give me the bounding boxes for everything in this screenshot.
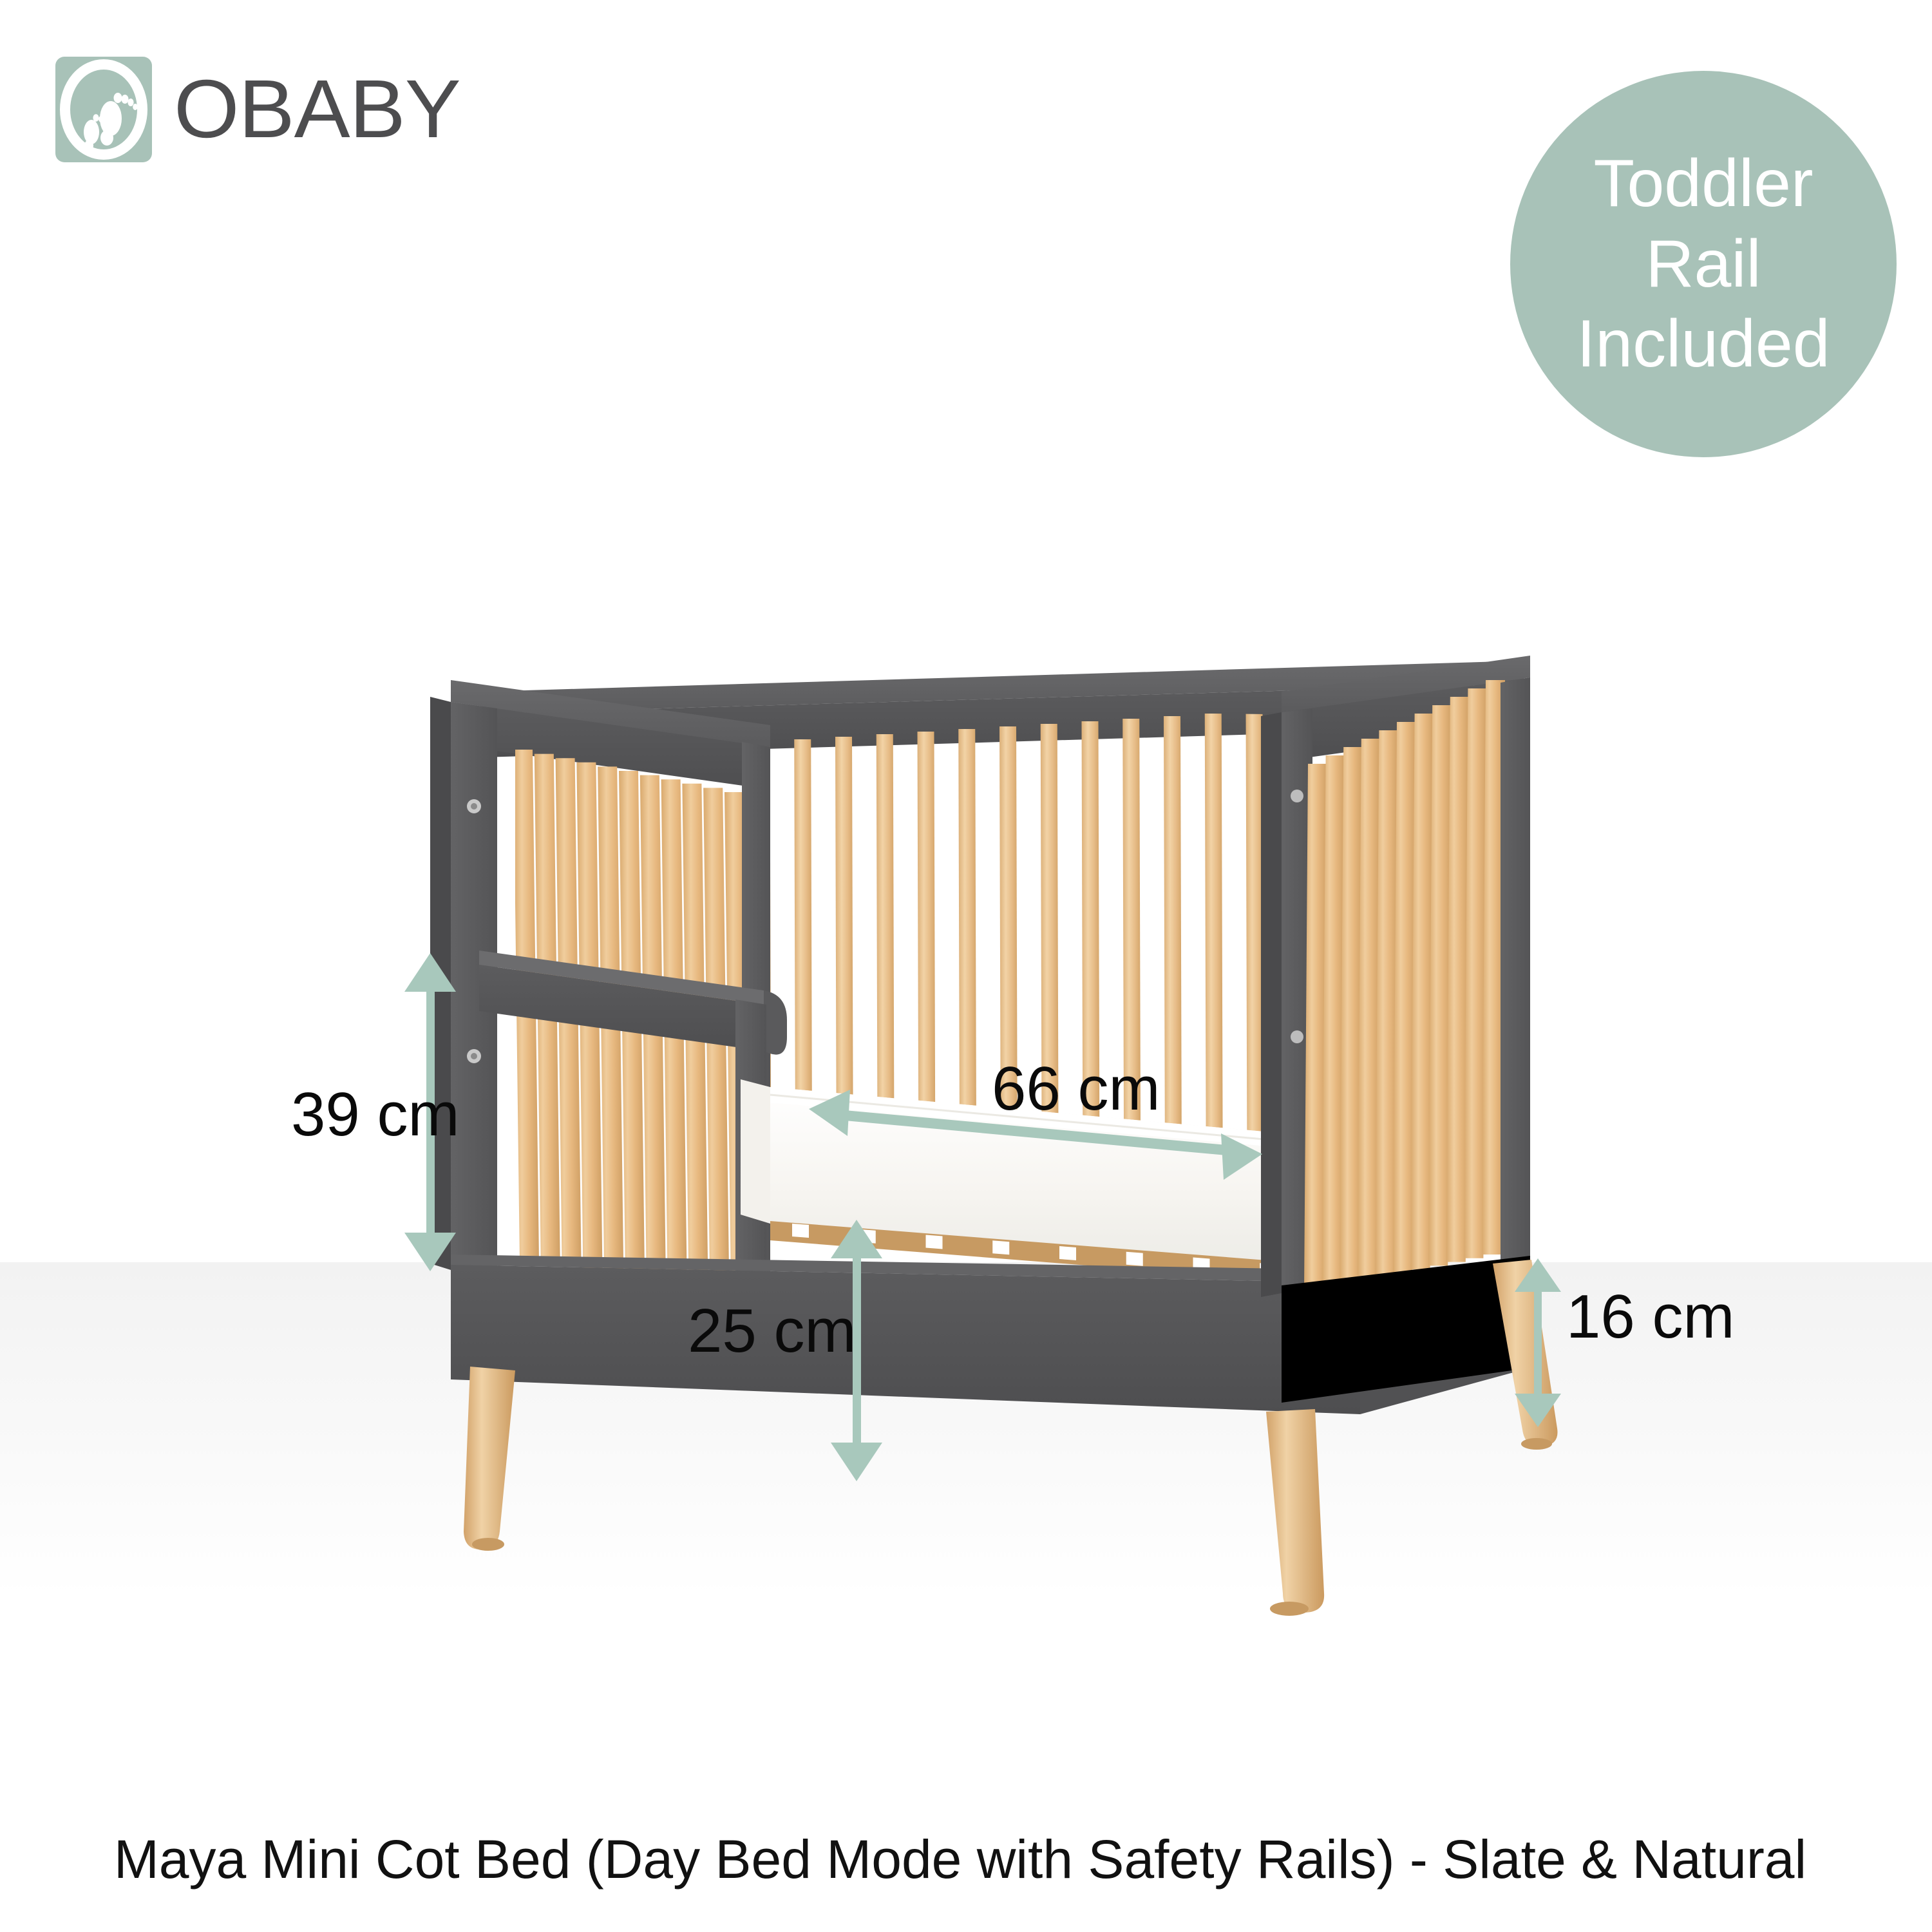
- right-corner-post: [1501, 677, 1530, 1270]
- dimension-label-base-to-floor: 25 cm: [688, 1296, 856, 1367]
- badge-line-2: Rail: [1645, 224, 1761, 305]
- spindle: [1205, 714, 1223, 1173]
- badge-line-3: Included: [1577, 304, 1830, 384]
- product-caption: Maya Mini Cot Bed (Day Bed Mode with Saf…: [0, 1828, 1932, 1891]
- dimension-label-mattress-width: 66 cm: [992, 1054, 1160, 1124]
- slat-gap: [1059, 1246, 1076, 1260]
- badge-line-1: Toddler: [1593, 144, 1813, 224]
- brand-logo: OBABY: [55, 57, 455, 162]
- dimension-label-leg-height: 16 cm: [1566, 1282, 1734, 1352]
- product-image-canvas: OBABY Toddler Rail Included 39 cm 66 cm …: [0, 0, 1932, 1932]
- slat-gap: [992, 1240, 1009, 1255]
- slat-gap: [926, 1235, 943, 1249]
- brand-wordmark: OBABY: [174, 68, 460, 151]
- obaby-footprints-logo-icon: [55, 57, 152, 162]
- slat-gap: [792, 1224, 809, 1238]
- dimension-label-rail-height: 39 cm: [291, 1079, 459, 1150]
- slat-gap: [1126, 1252, 1143, 1266]
- toddler-rail-badge: Toddler Rail Included: [1510, 71, 1897, 457]
- right-end-panel: [1261, 656, 1530, 1403]
- spindle: [1164, 716, 1182, 1176]
